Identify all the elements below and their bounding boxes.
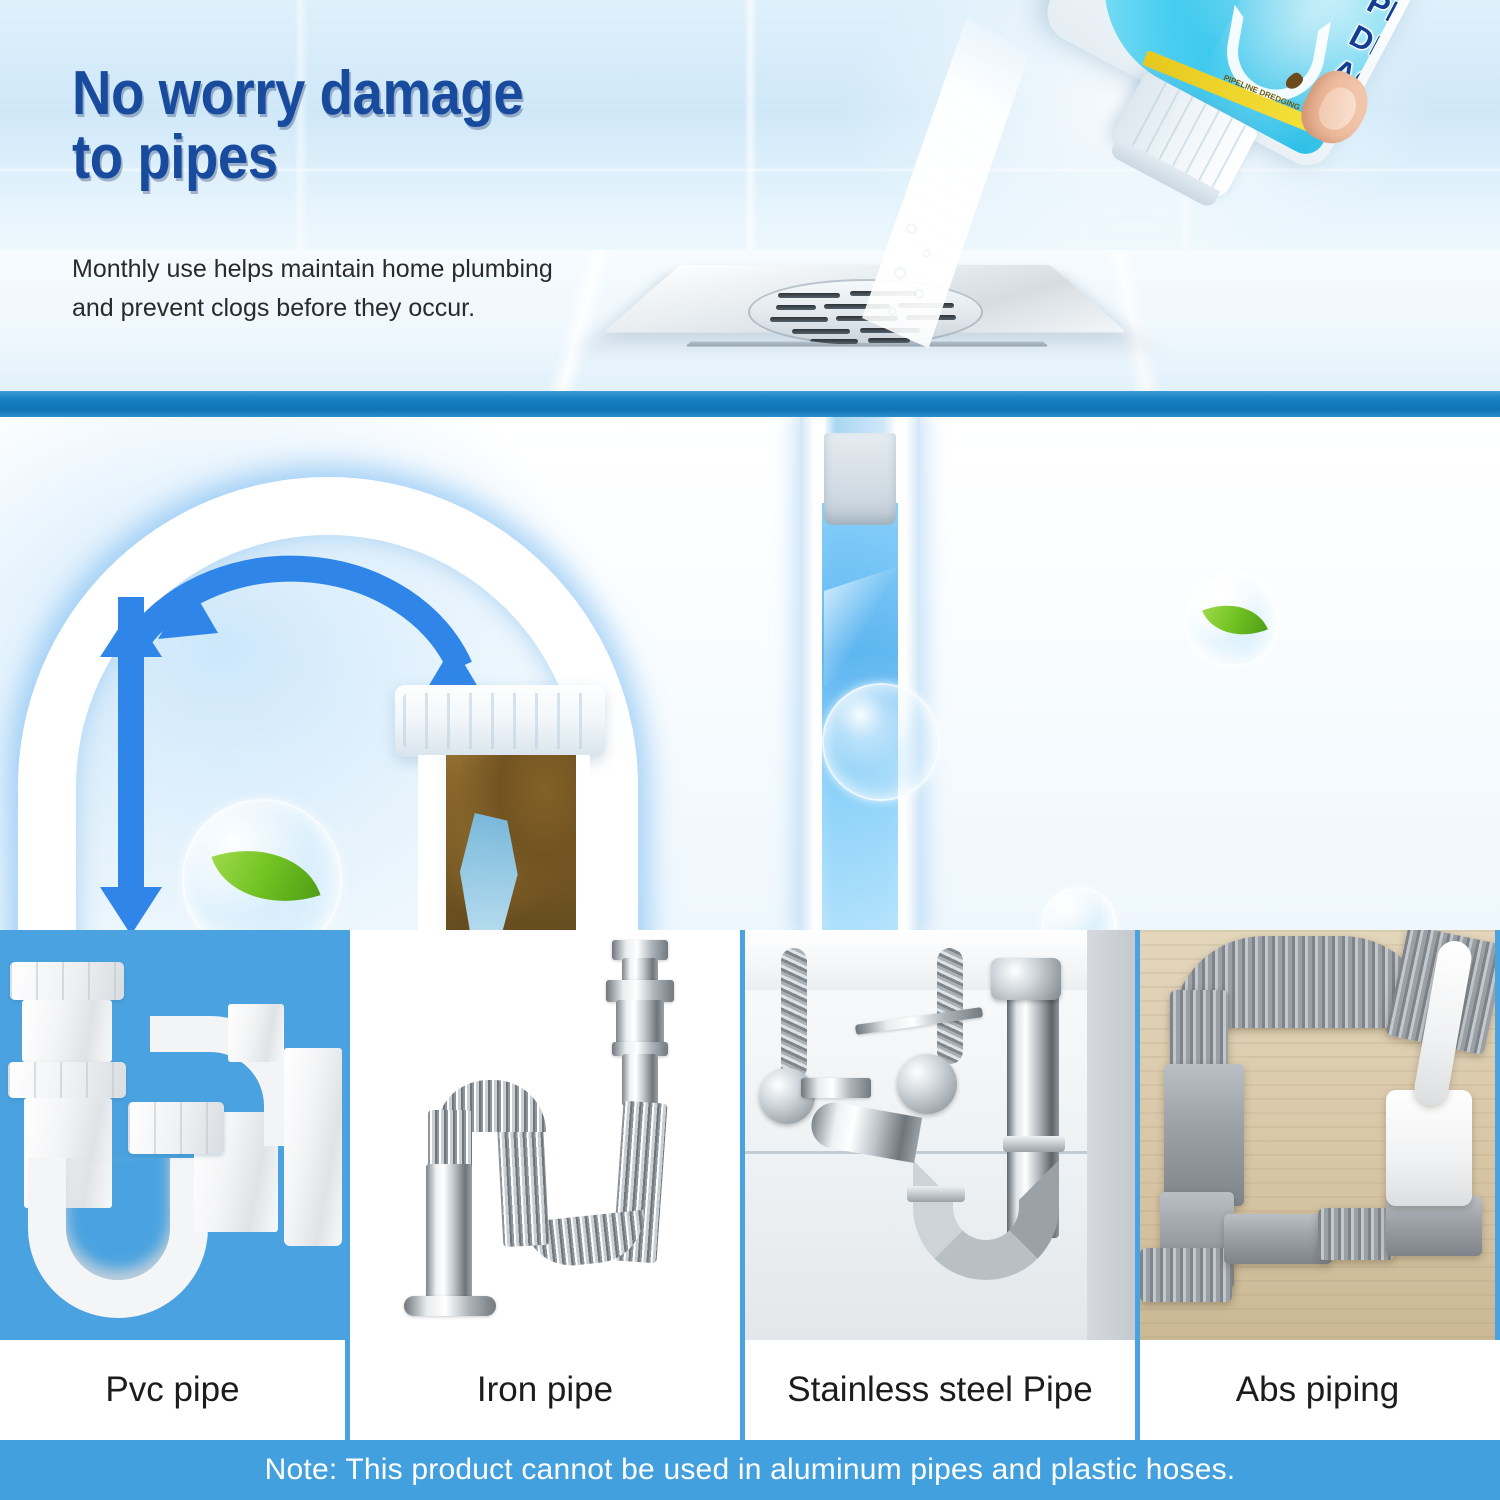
pvc-pipe-photo <box>0 930 345 1340</box>
panel-abs-piping[interactable] <box>1140 930 1495 1340</box>
panel-stainless-steel-pipe[interactable] <box>745 930 1140 1340</box>
caption-stainless-steel-pipe: Stainless steel Pipe <box>745 1340 1140 1440</box>
pipe-types-gallery <box>0 930 1500 1340</box>
clogged-pipe-section <box>418 755 590 930</box>
leaf-icon <box>211 828 320 923</box>
abs-smooth-left <box>1164 1064 1244 1206</box>
slip-nut <box>1003 1136 1065 1152</box>
section-divider-bar <box>0 391 1500 417</box>
sink-drain-flange <box>991 958 1061 1000</box>
pvc-u-bend <box>28 1158 208 1318</box>
bubble-small-bottom <box>1042 887 1116 930</box>
abs-horizontal <box>1224 1214 1332 1264</box>
iron-pipe-photo <box>350 930 740 1340</box>
braided-hose-left <box>781 948 807 1080</box>
abs-corrugated-mid <box>1318 1208 1394 1260</box>
shutoff-valve-right <box>897 1054 957 1114</box>
caption-pvc-pipe: Pvc pipe <box>0 1340 345 1440</box>
caption-iron-pipe: Iron pipe <box>345 1340 745 1440</box>
hero-subtitle: Monthly use helps maintain home plumbing… <box>72 250 692 328</box>
bubble-large <box>822 683 940 801</box>
headline-line-2: to pipes <box>72 126 653 190</box>
pipe-cleanout-cap <box>395 685 605 757</box>
vertical-drain-pipe <box>800 417 920 930</box>
subtitle-line-1: Monthly use helps maintain home plumbing <box>72 250 692 289</box>
white-hose-coupler <box>1386 1090 1472 1206</box>
caption-abs-piping: Abs piping <box>1140 1340 1495 1440</box>
hero-section: No worry damage to pipes Monthly use hel… <box>0 0 1500 393</box>
abs-corrugated-bottom-left <box>1140 1248 1232 1302</box>
floor-drain <box>680 265 1070 370</box>
panel-iron-pipe[interactable] <box>345 930 745 1340</box>
bubble-with-leaf-right <box>1186 575 1278 667</box>
leaf-icon-right <box>1202 590 1268 649</box>
drain-strainer-cap <box>824 433 896 525</box>
panel-captions-row: Pvc pipe Iron pipe Stainless steel Pipe … <box>0 1340 1500 1440</box>
slip-nut-2 <box>907 1186 965 1202</box>
page-title: No worry damage to pipes <box>72 62 653 190</box>
headline-line-1: No worry damage <box>72 62 653 126</box>
note-text: Note: This product cannot be used in alu… <box>265 1453 1236 1487</box>
note-bar: Note: This product cannot be used in alu… <box>0 1440 1500 1500</box>
panel-pvc-pipe[interactable] <box>0 930 345 1340</box>
subtitle-line-2: and prevent clogs before they occur. <box>72 289 692 328</box>
cabinet-wall <box>1087 930 1135 1340</box>
braided-hose-right <box>937 948 963 1064</box>
pipe-cutaway-illustration <box>0 417 1500 930</box>
